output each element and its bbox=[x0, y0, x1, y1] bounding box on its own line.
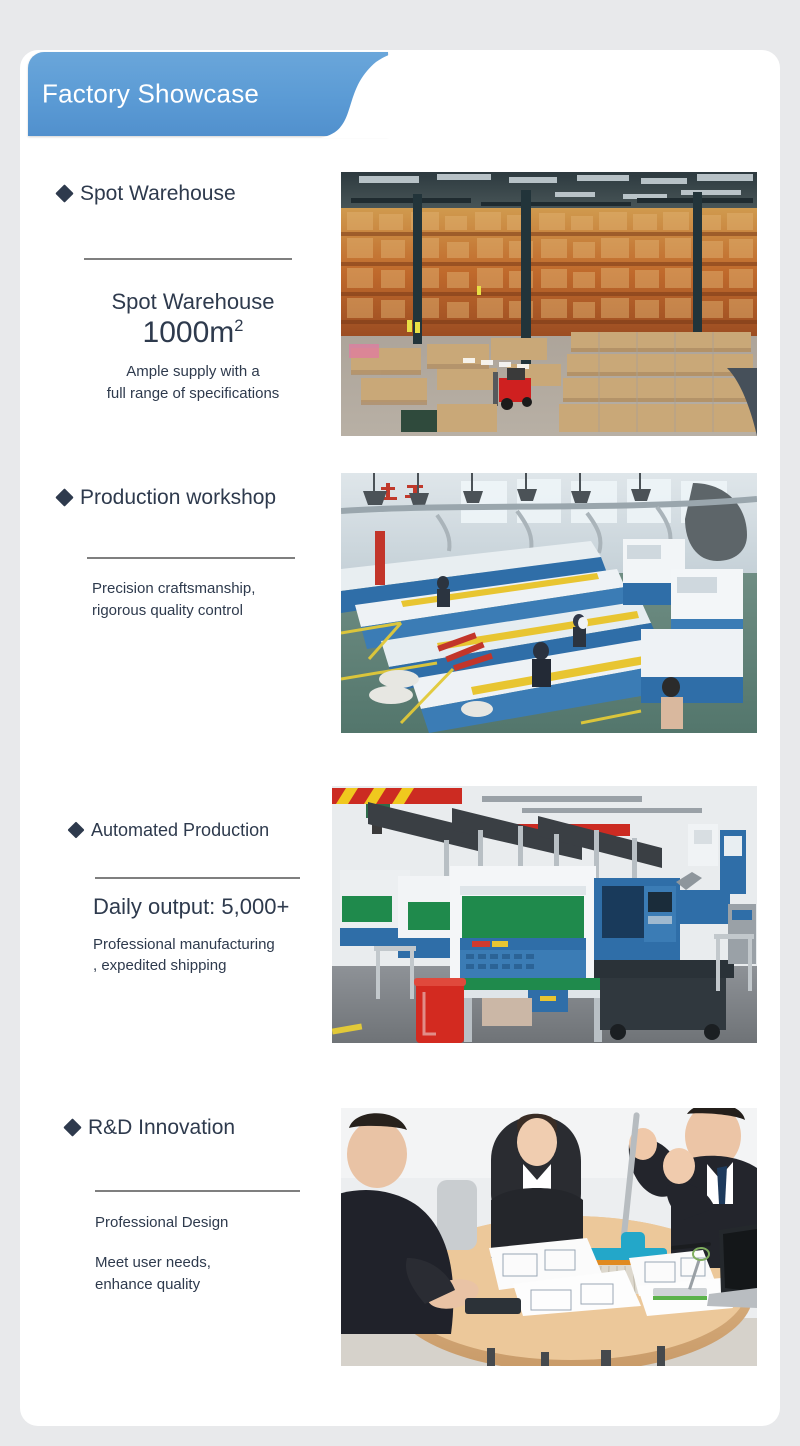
section-4-sub-title: Professional Design bbox=[95, 1212, 330, 1234]
page-title: Factory Showcase bbox=[42, 79, 259, 110]
header-banner: Factory Showcase bbox=[28, 52, 388, 136]
section-3-desc-line-2: , expedited shipping bbox=[93, 955, 338, 977]
diamond-bullet-icon bbox=[55, 488, 73, 506]
section-1-divider bbox=[84, 258, 292, 260]
factory-showcase-page: Factory Showcase Spot Warehouse Spot War… bbox=[0, 0, 800, 1446]
section-3-heading: Automated Production bbox=[70, 821, 330, 839]
section-3-heading-label: Automated Production bbox=[91, 821, 269, 839]
section-1-heading: Spot Warehouse bbox=[58, 183, 308, 204]
diamond-bullet-icon bbox=[68, 822, 85, 839]
rd-innovation-photo bbox=[341, 1108, 757, 1366]
section-3-desc-line-1: Professional manufacturing bbox=[93, 934, 338, 956]
section-4-desc-line-1: Meet user needs, bbox=[95, 1252, 330, 1274]
section-1-desc-line-2: full range of specifications bbox=[58, 383, 328, 405]
diamond-bullet-icon bbox=[55, 184, 73, 202]
section-2-heading: Production workshop bbox=[58, 487, 328, 508]
automated-production-photo bbox=[332, 786, 757, 1043]
section-1-highlight-title: Spot Warehouse bbox=[58, 288, 328, 316]
section-1-highlight-superscript: 2 bbox=[234, 317, 243, 335]
spot-warehouse-photo bbox=[341, 172, 757, 436]
section-2-divider bbox=[87, 557, 295, 559]
section-1-highlight-value: 1000m2 bbox=[58, 316, 328, 351]
section-2-heading-label: Production workshop bbox=[80, 487, 276, 508]
section-2-desc-line-1: Precision craftsmanship, bbox=[92, 578, 322, 600]
section-1-desc-line-1: Ample supply with a bbox=[58, 361, 328, 383]
section-3-divider bbox=[95, 877, 300, 879]
section-4-heading-label: R&D Innovation bbox=[88, 1117, 235, 1138]
section-4-divider bbox=[95, 1190, 300, 1192]
section-4-heading: R&D Innovation bbox=[66, 1117, 346, 1138]
section-1-heading-label: Spot Warehouse bbox=[80, 183, 236, 204]
section-4-desc-line-2: enhance quality bbox=[95, 1274, 330, 1296]
diamond-bullet-icon bbox=[63, 1118, 81, 1136]
section-2-desc-line-2: rigorous quality control bbox=[92, 600, 322, 622]
section-1-highlight-number: 1000m bbox=[143, 316, 235, 349]
production-workshop-photo bbox=[341, 473, 757, 733]
section-3-highlight-value: Daily output: 5,000+ bbox=[93, 893, 338, 921]
